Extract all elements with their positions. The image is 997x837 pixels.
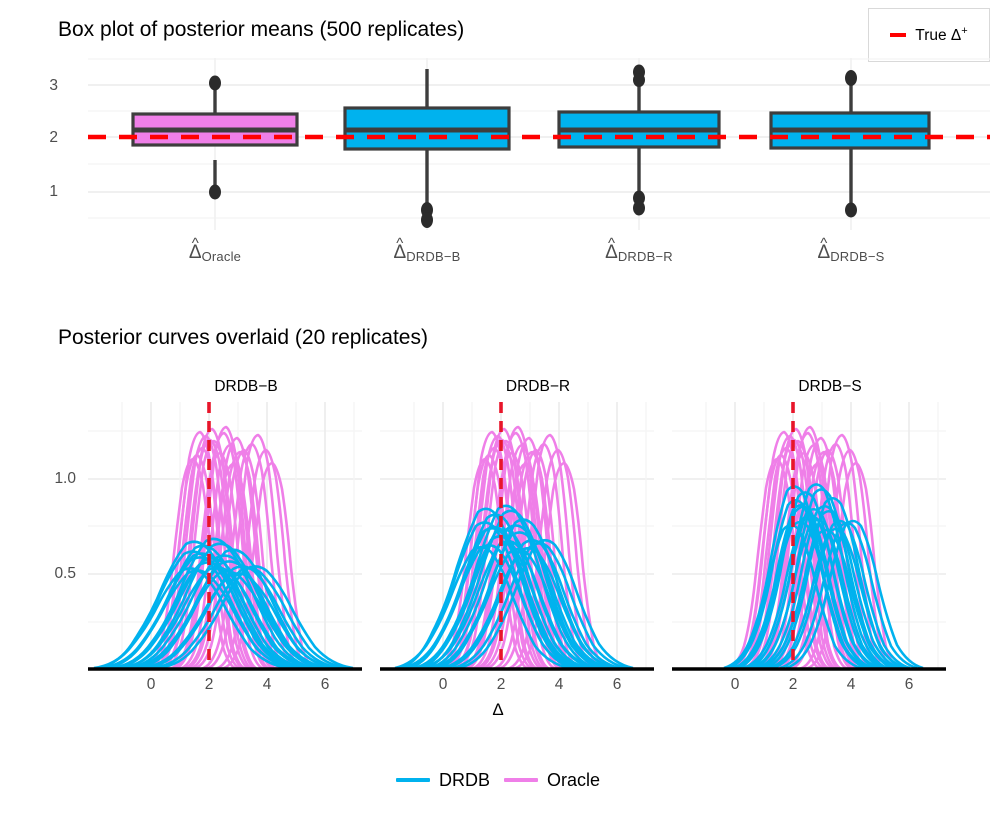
density-r-xtick-2: 2: [481, 676, 521, 694]
legend-item-drdb: DRDB: [396, 770, 490, 791]
density-panel-drdb-b: [88, 402, 362, 674]
density-panel-drdb-s: [672, 402, 946, 674]
density-ytick-05: 0.5: [18, 565, 76, 583]
boxplot-xlabel-drdb-b: ^ΔDRDB−B: [362, 243, 492, 262]
boxplot-xlabel-drdb-r: ^ΔDRDB−R: [574, 243, 704, 262]
density-r-xtick-4: 4: [539, 676, 579, 694]
drdb-line-icon: [396, 778, 430, 782]
density-b-xtick-2: 2: [189, 676, 229, 694]
density-b-xtick-4: 4: [247, 676, 287, 694]
true-delta-legend-label: True Δ+: [915, 25, 967, 45]
hat-accent-icon: ^: [608, 236, 615, 251]
true-delta-legend: True Δ+: [868, 8, 990, 62]
true-delta-line-icon: [890, 33, 906, 37]
hat-accent-icon: ^: [192, 236, 199, 251]
density-r-xtick-0: 0: [423, 676, 463, 694]
density-s-xtick-6: 6: [889, 676, 929, 694]
true-delta-superscript: +: [961, 25, 967, 37]
legend-label-drdb: DRDB: [439, 770, 490, 791]
series-legend: DRDB Oracle: [338, 765, 658, 795]
boxplot-drdb-b: [345, 69, 509, 228]
density-b-xtick-0: 0: [131, 676, 171, 694]
facet-label-drdb-r: DRDB−R: [398, 378, 678, 396]
density-s-xtick-2: 2: [773, 676, 813, 694]
top-panel-title: Box plot of posterior means (500 replica…: [58, 18, 464, 42]
hat-accent-icon: ^: [396, 236, 403, 251]
hat-accent-icon: ^: [820, 236, 827, 251]
facet-label-drdb-b: DRDB−B: [106, 378, 386, 396]
density-r-xtick-6: 6: [597, 676, 637, 694]
boxplot-drdb-s: [771, 70, 929, 218]
density-x-axis-title: Δ: [458, 700, 538, 720]
facet-label-drdb-s: DRDB−S: [690, 378, 970, 396]
density-b-xtick-6: 6: [305, 676, 345, 694]
density-panel-drdb-r: [380, 402, 654, 674]
density-s-xtick-0: 0: [715, 676, 755, 694]
density-ytick-1: 1.0: [18, 470, 76, 488]
legend-item-oracle: Oracle: [504, 770, 600, 791]
oracle-line-icon: [504, 778, 538, 782]
boxplot-xlabel-oracle: ^ΔOracle: [150, 243, 280, 262]
density-s-xtick-4: 4: [831, 676, 871, 694]
boxplot-ytick-2: 2: [20, 129, 58, 147]
boxplot-panel: [88, 58, 990, 230]
boxplot-ytick-3: 3: [20, 77, 58, 95]
boxplot-ytick-1: 1: [20, 183, 58, 201]
bottom-panel-title: Posterior curves overlaid (20 replicates…: [58, 326, 428, 350]
boxplot-drdb-r: [559, 65, 719, 216]
boxplot-xlabel-drdb-s: ^ΔDRDB−S: [786, 243, 916, 262]
legend-label-oracle: Oracle: [547, 770, 600, 791]
figure-root: Box plot of posterior means (500 replica…: [0, 0, 997, 837]
